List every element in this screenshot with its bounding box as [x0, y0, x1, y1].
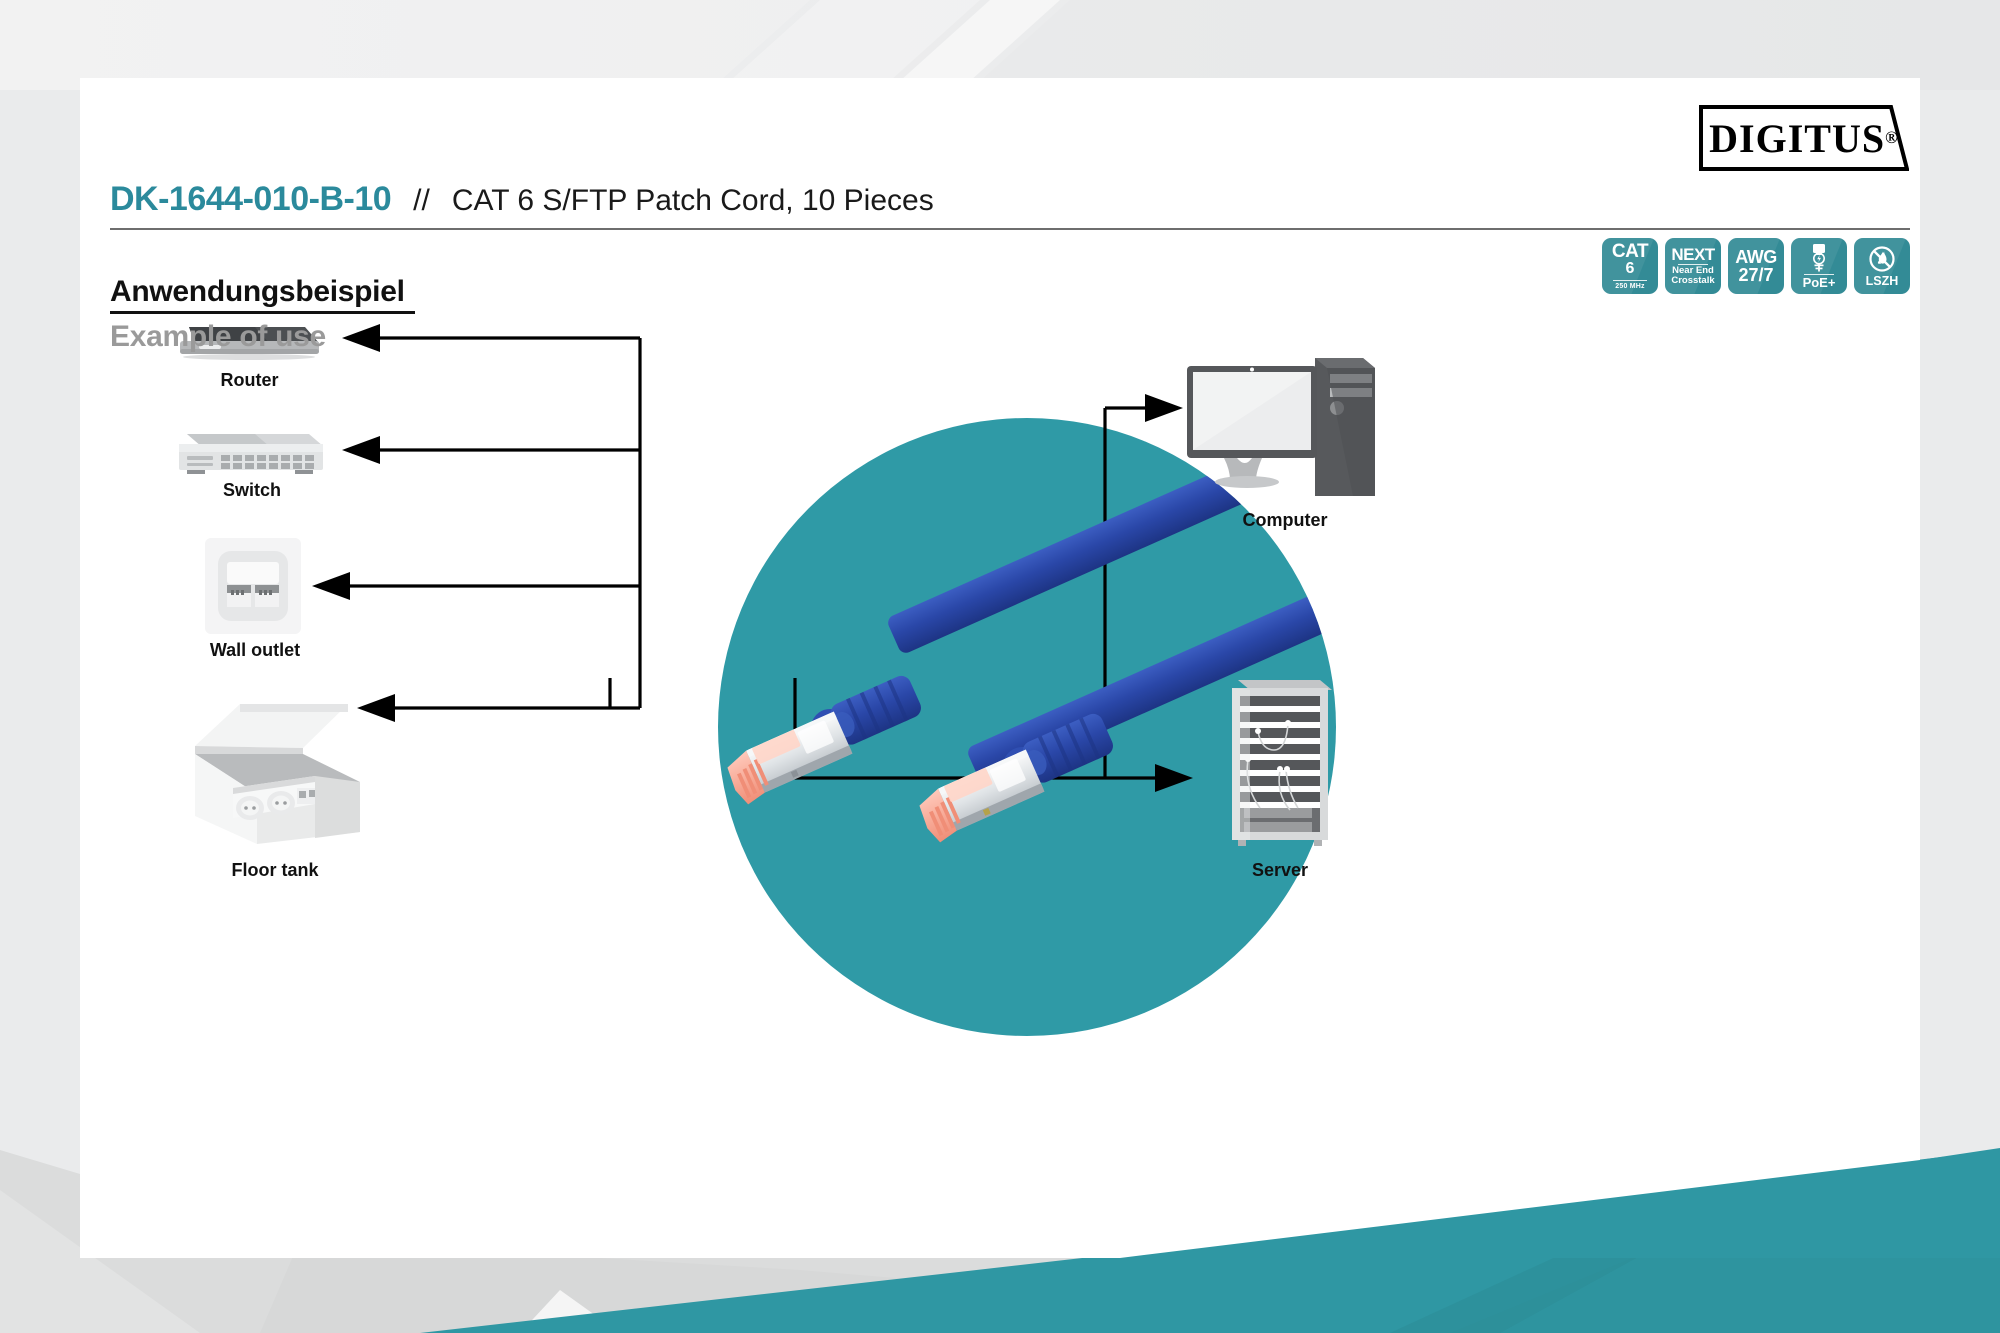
product-description: CAT 6 S/FTP Patch Cord, 10 Pieces — [452, 184, 934, 218]
router-label: Router — [177, 370, 322, 391]
switch-label: Switch — [177, 480, 327, 501]
no-flame-icon — [1868, 245, 1896, 273]
digitus-logo: DIGITUS® — [1699, 105, 1909, 171]
product-title-row: DK-1644-010-B-10 // CAT 6 S/FTP Patch Co… — [110, 180, 934, 219]
cat6-badge-line2: 6 — [1626, 261, 1635, 278]
next-badge-line3: Crosstalk — [1671, 276, 1714, 286]
server-icon — [1220, 670, 1340, 850]
poe-badge: PoE+ — [1791, 238, 1847, 294]
section-title-de: Anwendungsbeispiel — [110, 275, 405, 309]
wall-outlet-icon — [205, 538, 301, 634]
section-title-en: Example of use — [110, 320, 326, 354]
logo-wordmark: DIGITUS — [1709, 115, 1885, 162]
computer-label: Computer — [1185, 510, 1385, 531]
cat6-badge-line3: 250 MHz — [1615, 283, 1644, 291]
floor-tank-icon — [185, 696, 365, 856]
spec-badge-row: CAT 6 250 MHz NEXT Near End Crosstalk AW… — [1602, 238, 1910, 294]
cat6-badge: CAT 6 250 MHz — [1602, 238, 1658, 294]
product-sku: DK-1644-010-B-10 — [110, 180, 391, 219]
floor-tank-label: Floor tank — [175, 860, 375, 881]
next-badge-line1: NEXT — [1671, 246, 1714, 263]
rj45-power-icon — [1808, 243, 1830, 273]
awg-badge-line1: AWG — [1735, 248, 1777, 266]
computer-icon — [1185, 356, 1385, 506]
wall-outlet-label: Wall outlet — [180, 640, 330, 661]
lszh-badge: LSZH — [1854, 238, 1910, 294]
section-title-underline — [110, 311, 415, 314]
switch-icon — [177, 430, 327, 478]
next-badge: NEXT Near End Crosstalk — [1665, 238, 1721, 294]
title-divider — [110, 228, 1910, 230]
server-label: Server — [1190, 860, 1370, 881]
title-separator: // — [413, 184, 430, 218]
awg-badge: AWG 27/7 — [1728, 238, 1784, 294]
cat6-badge-line1: CAT — [1612, 242, 1648, 261]
lszh-badge-label: LSZH — [1866, 275, 1899, 288]
poe-badge-label: PoE+ — [1803, 276, 1836, 289]
registered-trademark-icon: ® — [1885, 128, 1899, 148]
awg-badge-line2: 27/7 — [1738, 266, 1773, 285]
